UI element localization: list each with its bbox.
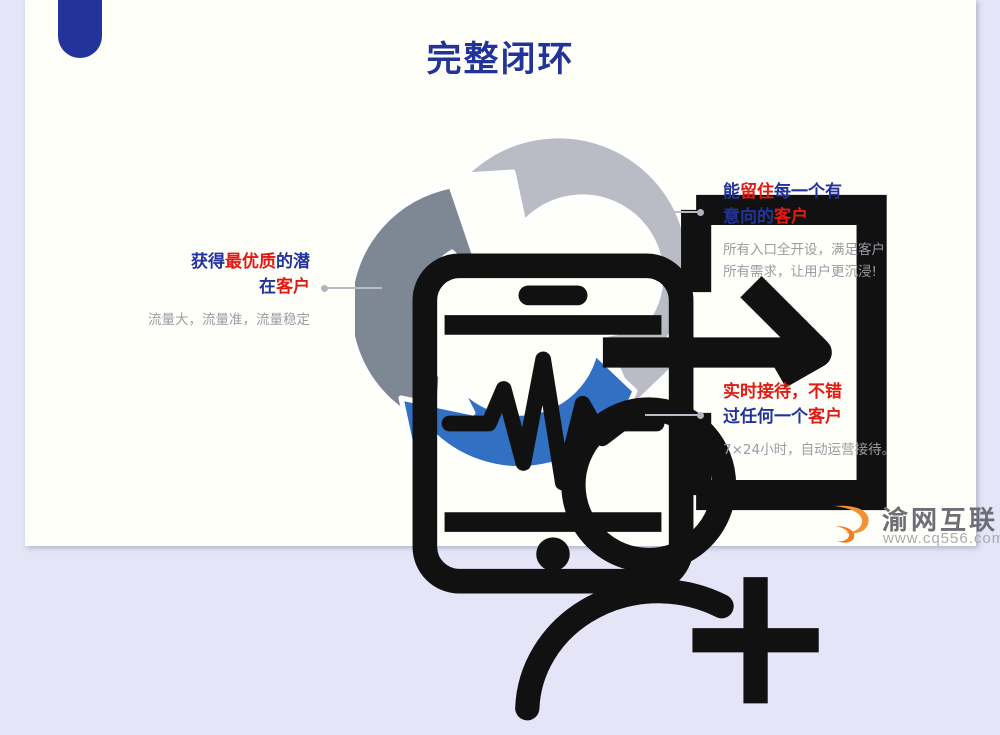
watermark-logo-icon [830,502,876,546]
callout-retain-headline-line2: 意向的客户 [723,205,953,230]
callout-retain-description-line2: 所有需求，让用户更沉浸! [723,261,953,283]
callout-retain: 能留住每一个有 意向的客户 所有入口全开设，满足客户 所有需求，让用户更沉浸! [723,180,953,283]
text-fragment: 在 [259,277,276,297]
text-fragment: 意向的 [723,207,774,227]
text-fragment: 获得 [191,252,225,272]
watermark-url: www.cq556.com [883,530,1000,547]
connector-dot [321,285,328,292]
callout-traffic-description: 流量大，流量准，流量稳定 [85,309,310,331]
callout-traffic-headline-line2: 在客户 [85,275,310,300]
callout-retain-headline-line1: 能留住每一个有 [723,180,953,205]
text-fragment-highlight: 留住 [740,182,774,202]
text-fragment: 能 [723,182,740,202]
callout-retain-headline: 能留住每一个有 意向的客户 [723,180,953,230]
callout-reception-description: 7×24小时，自动运营接待。 [723,439,953,461]
callout-reception-headline-line1: 实时接待，不错 [723,380,953,405]
text-fragment: 的潜 [276,252,310,272]
connector-dot [697,209,704,216]
callout-retain-description-line1: 所有入口全开设，满足客户 [723,239,953,261]
add-user-icon [503,390,573,456]
watermark: 渝网互联 www.cq556.com [830,500,1000,552]
callout-traffic-headline-line1: 获得最优质的潜 [85,250,310,275]
callout-reception: 实时接待，不错 过任何一个客户 7×24小时，自动运营接待。 [723,380,953,461]
connector-line-left [322,287,382,289]
callout-reception-headline: 实时接待，不错 过任何一个客户 [723,380,953,430]
text-fragment-highlight: 实时接待，不错 [723,382,842,402]
text-fragment-highlight: 客户 [276,277,310,297]
callout-traffic: 获得最优质的潜 在客户 流量大，流量准，流量稳定 [85,250,310,331]
page-title: 完整闭环 [25,31,976,82]
callout-reception-headline-line2: 过任何一个客户 [723,405,953,430]
text-fragment: 每一个有 [774,182,842,202]
callout-traffic-headline: 获得最优质的潜 在客户 [85,250,310,300]
corner-accent-tab [58,0,102,58]
connector-line-bottomright [645,414,703,416]
text-fragment-highlight: 客户 [774,207,808,227]
text-fragment-highlight: 客户 [808,407,842,427]
slide-card: 完整闭环 [25,0,976,546]
text-fragment-highlight: 最优质 [225,252,276,272]
text-fragment: 过任何一个 [723,407,808,427]
connector-dot [697,412,704,419]
connector-line-topright [657,211,703,213]
cycle-diagram [355,138,695,483]
enter-login-icon [570,180,632,242]
mobile-pulse-icon [383,251,445,319]
callout-retain-description: 所有入口全开设，满足客户 所有需求，让用户更沉浸! [723,239,953,283]
